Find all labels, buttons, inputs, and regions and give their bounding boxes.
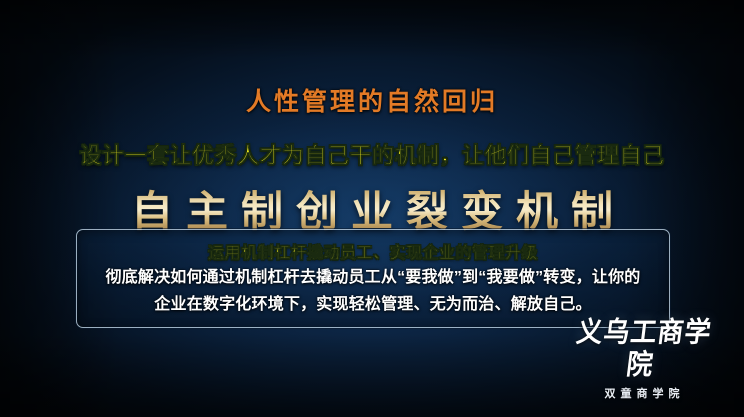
panel-body: 彻底解决如何通过机制杠杆去撬动员工从“要我做”到“我要做”转变，让你的 企业在数…	[87, 264, 659, 318]
logo-secondary-text: 双童商学院	[562, 385, 722, 401]
panel-body-line-1: 彻底解决如何通过机制杠杆去撬动员工从“要我做”到“我要做”转变，让你的	[87, 264, 659, 291]
slide-subtitle: 设计一套让优秀人才为自己干的机制，让他们自己管理自己	[0, 138, 744, 170]
content-panel: 运用机制杠杆撬动员工、实现企业的管理升级 彻底解决如何通过机制杠杆去撬动员工从“…	[76, 229, 670, 328]
panel-heading: 运用机制杠杆撬动员工、实现企业的管理升级	[77, 239, 669, 263]
institution-logo: 义乌工商学院 双童商学院	[562, 320, 722, 401]
presentation-slide: 人性管理的自然回归 设计一套让优秀人才为自己干的机制，让他们自己管理自己 自主制…	[0, 0, 744, 417]
logo-primary-text: 义乌工商学院	[558, 318, 726, 383]
panel-body-line-2: 企业在数字化环境下，实现轻松管理、无为而治、解放自己。	[87, 291, 659, 318]
slide-kicker: 人性管理的自然回归	[0, 82, 744, 118]
